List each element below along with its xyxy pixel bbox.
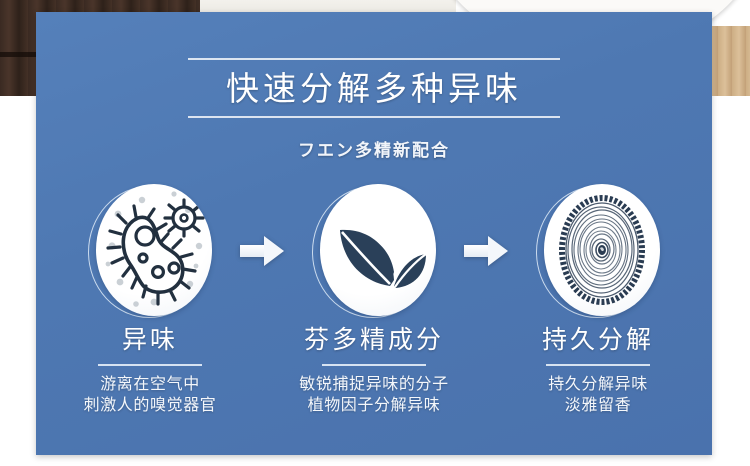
caption-line-1: 游离在空气中 — [38, 374, 262, 395]
step-3 — [519, 184, 677, 318]
info-card: 快速分解多种异味 フエン多精新配合 — [36, 12, 712, 455]
step-1 — [71, 184, 229, 318]
page-subtitle: フエン多精新配合 — [36, 136, 712, 161]
arrow-shaft — [464, 245, 490, 257]
leaves-icon — [320, 184, 436, 316]
caption-2: 芬多精成分 敏锐捕捉异味的分子 植物因子分解异味 — [262, 324, 486, 416]
caption-1: 异味 游离在空气中 刺激人的嗅觉器官 — [38, 324, 262, 416]
bacteria-icon — [96, 184, 212, 316]
title-rule-bottom — [188, 116, 560, 118]
ripple-icon — [544, 184, 660, 316]
caption-line-2: 刺激人的嗅觉器官 — [38, 395, 262, 416]
title-block: 快速分解多种异味 — [36, 58, 712, 118]
caption-divider — [546, 364, 650, 366]
caption-heading: 芬多精成分 — [262, 324, 486, 356]
caption-heading: 持久分解 — [486, 324, 710, 356]
step-2 — [295, 184, 453, 318]
arrow-right-icon — [464, 236, 508, 266]
caption-divider — [322, 364, 426, 366]
poster-canvas: 快速分解多种异味 フエン多精新配合 — [0, 0, 750, 466]
arrow-2 — [453, 236, 519, 266]
step-icon-row — [36, 176, 712, 326]
caption-3: 持久分解 持久分解异味 淡雅留香 — [486, 324, 710, 416]
arrow-1 — [229, 236, 295, 266]
step-3-disc — [536, 184, 660, 318]
caption-line-2: 植物因子分解异味 — [262, 395, 486, 416]
disc-face — [544, 184, 660, 316]
title-rule-top — [188, 58, 560, 60]
arrow-right-icon — [240, 236, 284, 266]
caption-line-1: 敏锐捕捉异味的分子 — [262, 374, 486, 395]
disc-face — [96, 184, 212, 316]
page-title: 快速分解多种异味 — [36, 69, 712, 109]
arrow-head — [488, 236, 508, 266]
disc-face — [320, 184, 436, 316]
step-2-disc — [312, 184, 436, 318]
step-1-disc — [88, 184, 212, 318]
arrow-shaft — [240, 245, 266, 257]
caption-row: 异味 游离在空气中 刺激人的嗅觉器官 芬多精成分 敏锐捕捉异味的分子 植物因子分… — [36, 324, 712, 444]
caption-line-2: 淡雅留香 — [486, 395, 710, 416]
arrow-head — [264, 236, 284, 266]
caption-heading: 异味 — [38, 324, 262, 356]
caption-divider — [98, 364, 202, 366]
caption-line-1: 持久分解异味 — [486, 374, 710, 395]
